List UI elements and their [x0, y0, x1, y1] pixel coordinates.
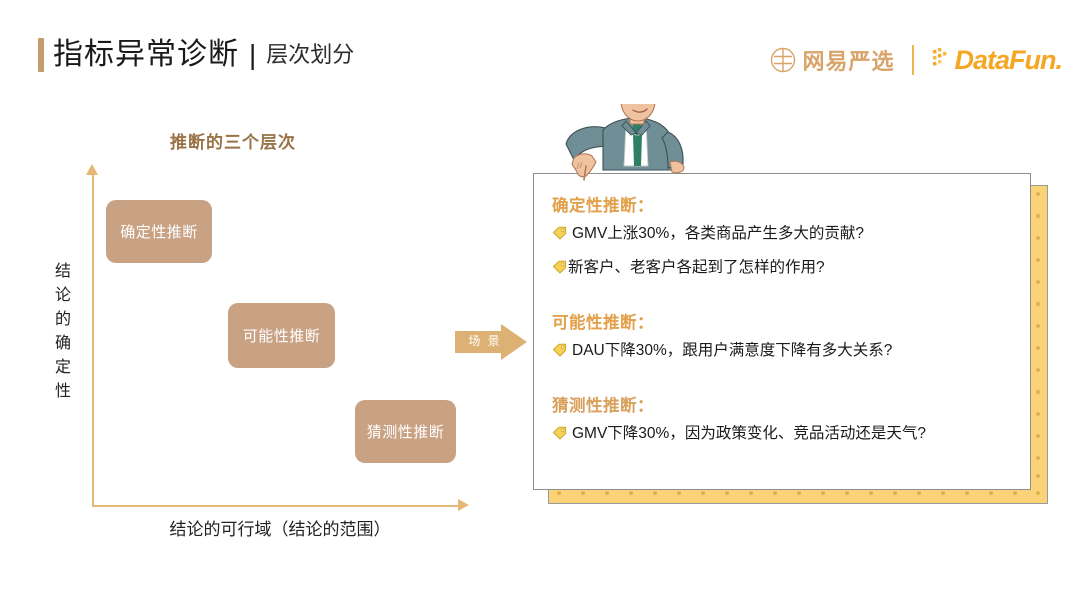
- scene-arrow-label: 场 景: [462, 332, 508, 349]
- title-separator: |: [249, 38, 256, 72]
- tag-icon: [552, 426, 567, 448]
- section-heading: 猜测性推断：: [552, 392, 1014, 416]
- bullet-item: GMV上涨30%，各类商品产生多大的贡献?: [552, 223, 1014, 248]
- node-certain-inference[interactable]: 确定性推断: [106, 200, 212, 263]
- bullet-text: DAU下降30%，跟用户满意度下降有多大关系?: [572, 340, 892, 362]
- y-axis-label: 结论的确定性: [52, 260, 74, 404]
- x-axis-label: 结论的可行域（结论的范围）: [85, 515, 475, 540]
- netease-yanxuan-label: 网易严选: [802, 44, 894, 76]
- x-axis-line: [92, 505, 460, 507]
- datafun-label: DataFun.: [954, 45, 1062, 76]
- page-title: 指标异常诊断 | 层次划分: [38, 38, 354, 72]
- section-spacer: [552, 291, 1014, 309]
- tag-icon: [552, 343, 567, 365]
- logo-group: 网易严选 DataFun.: [770, 40, 1062, 80]
- board-content: 确定性推断： GMV上涨30%，各类商品产生多大的贡献?: [552, 192, 1014, 457]
- businessman-pointing-illustration: [548, 104, 718, 186]
- datafun-logo: DataFun.: [932, 45, 1062, 76]
- bullet-text: 新客户、老客户各起到了怎样的作用?: [568, 257, 825, 279]
- bullet-item: 新客户、老客户各起到了怎样的作用?: [552, 257, 1014, 282]
- section-certain: 确定性推断： GMV上涨30%，各类商品产生多大的贡献?: [552, 192, 1014, 282]
- y-axis-line: [92, 172, 94, 506]
- section-speculative: 猜测性推断： GMV下降30%，因为政策变化、竞品活动还是天气?: [552, 392, 1014, 448]
- y-axis-arrowhead-icon: [86, 164, 98, 175]
- diagram-title: 推断的三个层次: [108, 128, 358, 153]
- bullet-item: GMV下降30%，因为政策变化、竞品活动还是天气?: [552, 423, 1014, 448]
- bullet-text: GMV上涨30%，各类商品产生多大的贡献?: [572, 223, 864, 245]
- title-sub-text: 层次划分: [266, 38, 354, 72]
- node-label: 可能性推断: [243, 325, 321, 346]
- title-accent-bar: [38, 38, 44, 72]
- x-axis-arrowhead-icon: [458, 499, 469, 511]
- section-heading: 确定性推断：: [552, 192, 1014, 216]
- slide-header: 指标异常诊断 | 层次划分 网易严选: [0, 0, 1080, 100]
- inference-board-panel: 确定性推断： GMV上涨30%，各类商品产生多大的贡献?: [533, 173, 1031, 490]
- section-heading: 可能性推断：: [552, 309, 1014, 333]
- node-label: 猜测性推断: [367, 421, 445, 442]
- section-spacer: [552, 374, 1014, 392]
- logo-divider: [912, 45, 914, 75]
- node-label: 确定性推断: [120, 221, 198, 242]
- slide-root: 指标异常诊断 | 层次划分 网易严选: [0, 0, 1080, 607]
- title-main-text: 指标异常诊断: [53, 38, 239, 72]
- node-speculative-inference[interactable]: 猜测性推断: [355, 400, 456, 463]
- node-probable-inference[interactable]: 可能性推断: [228, 303, 335, 368]
- netease-yanxuan-logo: 网易严选: [770, 44, 894, 76]
- three-levels-diagram: 推断的三个层次 结论的确定性 结论的可行域（结论的范围） 确定性推断 可能性推断…: [0, 100, 520, 570]
- datafun-dots-icon: [932, 45, 952, 76]
- tag-icon: [552, 226, 567, 248]
- bullet-item: DAU下降30%，跟用户满意度下降有多大关系?: [552, 340, 1014, 365]
- section-probable: 可能性推断： DAU下降30%，跟用户满意度下降有多大关系?: [552, 309, 1014, 365]
- circle-cross-icon: [770, 47, 796, 73]
- bullet-text: GMV下降30%，因为政策变化、竞品活动还是天气?: [572, 423, 926, 445]
- tag-icon: [552, 260, 567, 282]
